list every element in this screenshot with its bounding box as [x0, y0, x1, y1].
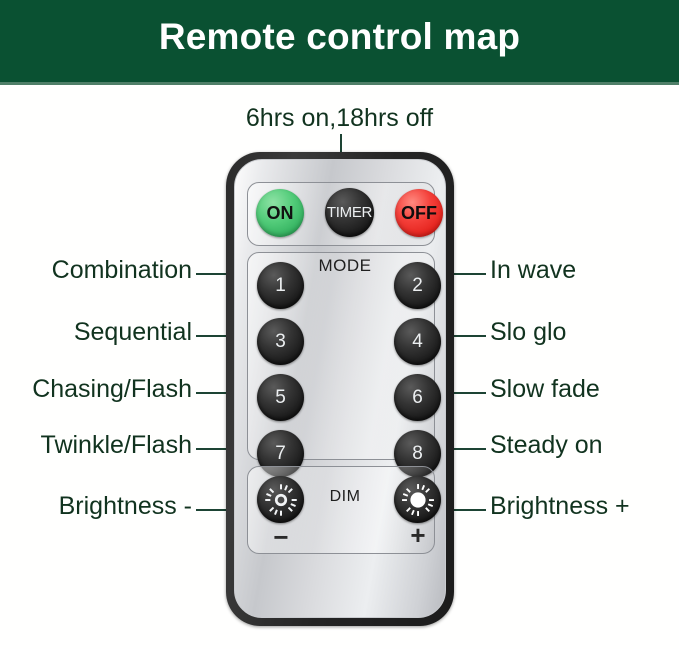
mode-button-3[interactable]: 3 [257, 318, 304, 365]
dim-down-button[interactable] [257, 476, 304, 523]
mode-button-5[interactable]: 5 [257, 374, 304, 421]
mode-button-7-label: 7 [275, 443, 286, 465]
header-underline-divider [0, 82, 679, 85]
callout-label-chasing-flash: Chasing/Flash [0, 375, 192, 403]
dim-minus-sign: − [259, 522, 303, 553]
off-button-label: OFF [401, 203, 437, 224]
remote-control-face: ON TIMER OFF MODE 1 2 3 4 5 6 7 8 DIM [234, 159, 446, 618]
off-button[interactable]: OFF [395, 189, 443, 237]
dim-section-label: DIM [298, 488, 392, 506]
callout-label-combination: Combination [0, 256, 192, 284]
mode-button-2[interactable]: 2 [394, 262, 441, 309]
on-button-label: ON [267, 203, 294, 224]
callout-label-sequential: Sequential [0, 318, 192, 346]
mode-button-6-label: 6 [412, 387, 423, 409]
timer-button[interactable]: TIMER [325, 188, 374, 237]
mode-section-label: MODE [298, 256, 392, 276]
dim-plus-sign: + [396, 520, 440, 551]
timer-button-label: TIMER [327, 204, 372, 221]
mode-button-4-label: 4 [412, 331, 423, 353]
callout-label-in-wave: In wave [490, 256, 576, 284]
dim-up-button[interactable] [394, 476, 441, 523]
mode-button-8-label: 8 [412, 443, 423, 465]
callout-label-brightness-down: Brightness - [0, 492, 192, 520]
sun-dim-icon [264, 483, 298, 517]
on-button[interactable]: ON [256, 189, 304, 237]
mode-button-4[interactable]: 4 [394, 318, 441, 365]
remote-control-body: ON TIMER OFF MODE 1 2 3 4 5 6 7 8 DIM [226, 152, 454, 626]
callout-label-twinkle-flash: Twinkle/Flash [0, 431, 192, 459]
page-title: Remote control map [0, 16, 679, 58]
mode-button-1-label: 1 [275, 275, 286, 297]
callout-label-brightness-up: Brightness + [490, 492, 630, 520]
mode-button-6[interactable]: 6 [394, 374, 441, 421]
callout-label-slo-glo: Slo glo [490, 318, 566, 346]
mode-button-3-label: 3 [275, 331, 286, 353]
mode-button-1[interactable]: 1 [257, 262, 304, 309]
callout-label-slow-fade: Slow fade [490, 375, 600, 403]
mode-button-2-label: 2 [412, 275, 423, 297]
callout-label-timer: 6hrs on,18hrs off [0, 104, 679, 132]
mode-button-5-label: 5 [275, 387, 286, 409]
sun-bright-icon [401, 483, 435, 517]
callout-label-steady-on: Steady on [490, 431, 603, 459]
